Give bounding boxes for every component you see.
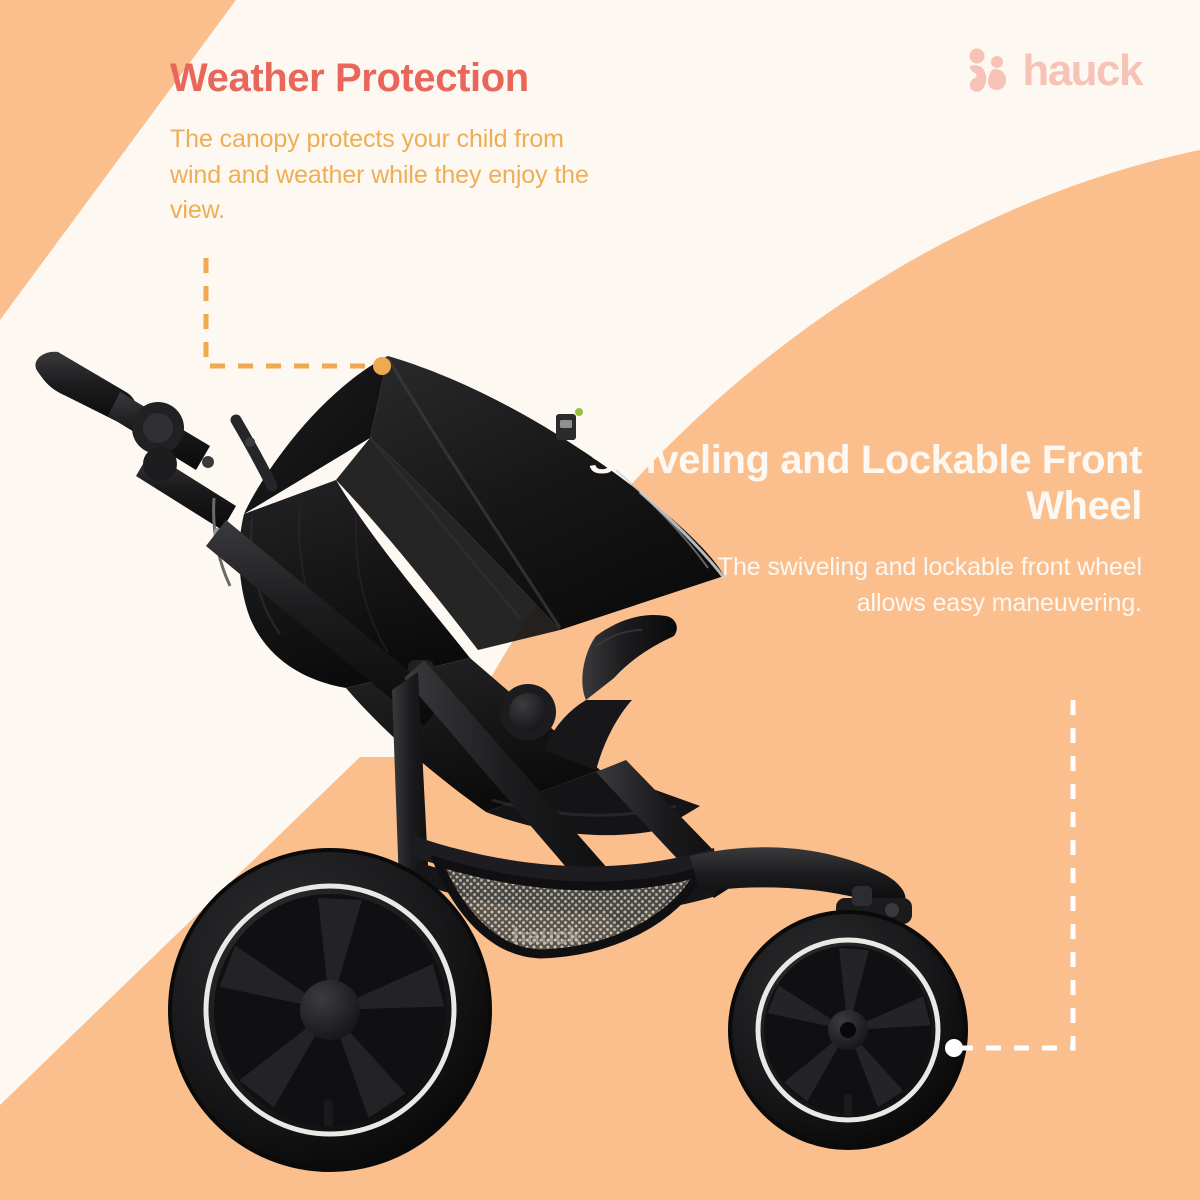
connector-line-weather-protection [206,258,374,366]
feature-title-weather-protection: Weather Protection [170,56,690,101]
feature-body-front-wheel: The swiveling and lockable front wheel a… [672,550,1142,621]
brand-wordmark: hauck [1022,49,1142,93]
brand-logo: hauck [964,48,1142,94]
connector-dot-front-wheel [945,1039,963,1057]
connector-line-front-wheel [962,700,1073,1048]
feature-title-front-wheel: Swiveling and Lockable Front Wheel [522,438,1142,529]
feature-body-weather-protection: The canopy protects your child from wind… [170,122,600,229]
connector-dot-canopy [373,357,391,375]
hauck-parent-child-icon [964,48,1014,94]
infographic-canvas: hauck [0,0,1200,1200]
